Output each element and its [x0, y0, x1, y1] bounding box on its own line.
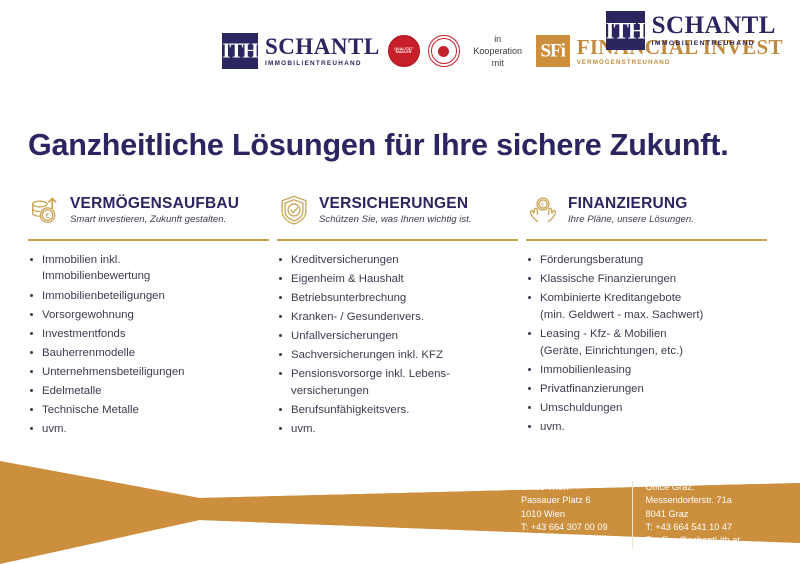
column-titles: VERMÖGENSAUFBAU Smart investieren, Zukun… — [70, 195, 239, 226]
office-street: Passauer Platz 6 — [521, 494, 620, 507]
list-item-text: Unfallversicherungen — [291, 330, 398, 342]
list-item-text: Technische Metalle — [42, 404, 139, 416]
list-item-text: Förderungsberatung — [540, 254, 643, 266]
column-header: € FINANZIERUNG Ihre Pläne, unsere Lösung… — [526, 188, 767, 232]
service-list-vermoegensaufbau: Immobilien inkl.Immobilienbewertung Immo… — [28, 252, 269, 438]
ith-schantl-logo: ITH SCHANTL IMMOBILIENTREUHAND — [222, 33, 380, 69]
list-item: Edelmetalle — [28, 383, 269, 400]
cooperation-line-2: Kooperation — [468, 45, 528, 57]
list-item-text: Sachversicherungen inkl. KFZ — [291, 349, 443, 361]
list-item-text: Immobilienleasing — [540, 364, 631, 376]
office-graz: Office Graz: Messendorferstr. 71a 8041 G… — [632, 481, 740, 548]
list-item: Klassische Finanzierungen — [526, 271, 767, 288]
logo-bar: ITH SCHANTL IMMOBILIENTREUHAND QUALITÄT … — [0, 0, 800, 100]
list-item-text: Klassische Finanzierungen — [540, 273, 676, 285]
qualitaet-makler-seal-text: QUALITÄT MAKLER — [389, 48, 419, 55]
list-item-continuation: Immobilienbewertung — [42, 268, 269, 285]
list-item-continuation: (min. Geldwert - max. Sachwert) — [540, 307, 767, 324]
corner-ith-monogram-text: ITH — [606, 19, 645, 42]
corner-ith-wordmark: SCHANTL IMMOBILIENTREUHAND — [652, 13, 776, 48]
column-divider — [277, 239, 518, 241]
ith-monogram-text: ITH — [222, 41, 258, 62]
list-item: uvm. — [28, 421, 269, 438]
column-versicherungen: VERSICHERUNGEN Schützen Sie, was Ihnen w… — [277, 188, 526, 440]
sfi-brand-subtitle: VERMÖGENSTREUHAND — [577, 60, 783, 66]
list-item-text: uvm. — [291, 423, 316, 435]
seal-ring — [431, 38, 457, 64]
column-tagline: Smart investieren, Zukunft gestalten. — [70, 215, 239, 226]
svg-text:€: € — [541, 203, 545, 209]
list-item: uvm. — [277, 421, 518, 438]
list-item-text: Leasing - Kfz- & Mobilien — [540, 328, 667, 340]
list-item-text: Vorsorgewohnung — [42, 309, 134, 321]
list-item: Investmentfonds — [28, 326, 269, 343]
list-item: Berufsunfähigkeitsvers. — [277, 402, 518, 419]
service-list-versicherungen: Kreditversicherungen Eigenheim & Haushal… — [277, 252, 518, 438]
list-item: Privatfinanzierungen — [526, 381, 767, 398]
column-divider — [28, 239, 269, 241]
list-item: Kreditversicherungen — [277, 252, 518, 269]
list-item-text: Berufsunfähigkeitsvers. — [291, 404, 409, 416]
svg-text:€: € — [45, 212, 49, 220]
column-header: VERSICHERUNGEN Schützen Sie, was Ihnen w… — [277, 188, 518, 232]
cooperation-note: in Kooperation mit — [468, 33, 528, 69]
list-item-text: Immobilien inkl. — [42, 254, 121, 266]
column-title: VERSICHERUNGEN — [319, 195, 472, 212]
column-divider — [526, 239, 767, 241]
list-item: Immobilienbeteiligungen — [28, 288, 269, 305]
list-item-text: Investmentfonds — [42, 328, 126, 340]
office-email[interactable]: E: office@schantl-ith.at — [646, 534, 740, 547]
column-finanzierung: € FINANZIERUNG Ihre Pläne, unsere Lösung… — [526, 188, 775, 440]
cooperation-line-3: mit — [468, 57, 528, 69]
list-item: Pensionsvorsorge inkl. Lebens-versicheru… — [277, 366, 518, 400]
list-item: Unternehmensbeteiligungen — [28, 364, 269, 381]
footer-contact-block: Office Wien: Passauer Platz 6 1010 Wien … — [521, 481, 740, 548]
page-headline: Ganzheitliche Lösungen für Ihre sichere … — [28, 128, 778, 163]
column-tagline: Ihre Pläne, unsere Lösungen. — [568, 215, 694, 226]
list-item: Technische Metalle — [28, 402, 269, 419]
list-item: Immobilien inkl.Immobilienbewertung — [28, 252, 269, 286]
flyer-page: ITH SCHANTL IMMOBILIENTREUHAND QUALITÄT … — [0, 0, 800, 564]
list-item: Leasing - Kfz- & Mobilien(Geräte, Einric… — [526, 326, 767, 360]
column-title: FINANZIERUNG — [568, 195, 694, 212]
list-item: Sachversicherungen inkl. KFZ — [277, 347, 518, 364]
list-item: Kombinierte Kreditangebote(min. Geldwert… — [526, 290, 767, 324]
list-item-text: Kombinierte Kreditangebote — [540, 292, 681, 304]
office-phone[interactable]: T: +43 664 541 10 47 — [646, 521, 740, 534]
office-name: Office Wien: — [521, 481, 620, 494]
coins-euro-growth-icon: € — [28, 193, 62, 227]
list-item-text: Kreditversicherungen — [291, 254, 399, 266]
list-item-text: Umschuldungen — [540, 402, 622, 414]
ith-brand-name: SCHANTL — [265, 35, 380, 58]
list-item-text: Pensionsvorsorge inkl. Lebens- — [291, 368, 450, 380]
hands-holding-coin-icon: € — [526, 193, 560, 227]
list-item: Kranken- / Gesundenvers. — [277, 309, 518, 326]
list-item-continuation: versicherungen — [291, 383, 518, 400]
corner-ith-schantl-logo: ITH SCHANTL IMMOBILIENTREUHAND — [606, 11, 776, 50]
column-title: VERMÖGENSAUFBAU — [70, 195, 239, 212]
sfi-monogram-text: SFi — [540, 42, 564, 61]
list-item-text: Betriebsunterbrechung — [291, 292, 406, 304]
list-item-text: Unternehmensbeteiligungen — [42, 366, 184, 378]
corner-ith-brand-subtitle: IMMOBILIENTREUHAND — [652, 41, 776, 48]
corner-ith-brand-name: SCHANTL — [652, 13, 776, 38]
list-item: Umschuldungen — [526, 400, 767, 417]
column-tagline: Schützen Sie, was Ihnen wichtig ist. — [319, 215, 472, 226]
office-city: 8041 Graz — [646, 508, 740, 521]
ith-brand-subtitle: IMMOBILIENTREUHAND — [265, 61, 380, 67]
office-wien: Office Wien: Passauer Platz 6 1010 Wien … — [521, 481, 632, 548]
list-item-text: Kranken- / Gesundenvers. — [291, 311, 424, 323]
list-item-text: uvm. — [540, 421, 565, 433]
qualitaet-makler-seal-icon: QUALITÄT MAKLER — [388, 35, 420, 67]
list-item-text: Edelmetalle — [42, 385, 102, 397]
list-item-text: Eigenheim & Haushalt — [291, 273, 404, 285]
list-item: Bauherrenmodelle — [28, 345, 269, 362]
office-city: 1010 Wien — [521, 508, 620, 521]
list-item-text: uvm. — [42, 423, 67, 435]
list-item: Unfallversicherungen — [277, 328, 518, 345]
list-item-text: Immobilienbeteiligungen — [42, 290, 165, 302]
immobilientreuhaender-seal-icon — [428, 35, 460, 67]
office-street: Messendorferstr. 71a — [646, 494, 740, 507]
corner-ith-monogram-icon: ITH — [606, 11, 645, 50]
list-item: Förderungsberatung — [526, 252, 767, 269]
list-item: Betriebsunterbrechung — [277, 290, 518, 307]
list-item: Immobilienleasing — [526, 362, 767, 379]
office-phone[interactable]: T: +43 664 307 00 09 — [521, 521, 620, 534]
office-email[interactable]: E: office@sfi-invest.com — [521, 534, 620, 547]
column-titles: VERSICHERUNGEN Schützen Sie, was Ihnen w… — [319, 195, 472, 226]
column-vermoegensaufbau: € VERMÖGENSAUFBAU Smart investieren, Zuk… — [28, 188, 277, 440]
service-columns: € VERMÖGENSAUFBAU Smart investieren, Zuk… — [28, 188, 776, 440]
sfi-monogram-icon: SFi — [536, 35, 570, 67]
list-item-text: Privatfinanzierungen — [540, 383, 644, 395]
list-item: uvm. — [526, 419, 767, 436]
cooperation-line-1: in — [468, 33, 528, 45]
office-name: Office Graz: — [646, 481, 740, 494]
shield-check-icon — [277, 193, 311, 227]
list-item: Vorsorgewohnung — [28, 307, 269, 324]
ith-wordmark: SCHANTL IMMOBILIENTREUHAND — [265, 35, 380, 67]
ith-monogram-icon: ITH — [222, 33, 258, 69]
column-titles: FINANZIERUNG Ihre Pläne, unsere Lösungen… — [568, 195, 694, 226]
list-item-text: Bauherrenmodelle — [42, 347, 135, 359]
service-list-finanzierung: Förderungsberatung Klassische Finanzieru… — [526, 252, 767, 436]
list-item-continuation: (Geräte, Einrichtungen, etc.) — [540, 343, 767, 360]
column-header: € VERMÖGENSAUFBAU Smart investieren, Zuk… — [28, 188, 269, 232]
list-item: Eigenheim & Haushalt — [277, 271, 518, 288]
